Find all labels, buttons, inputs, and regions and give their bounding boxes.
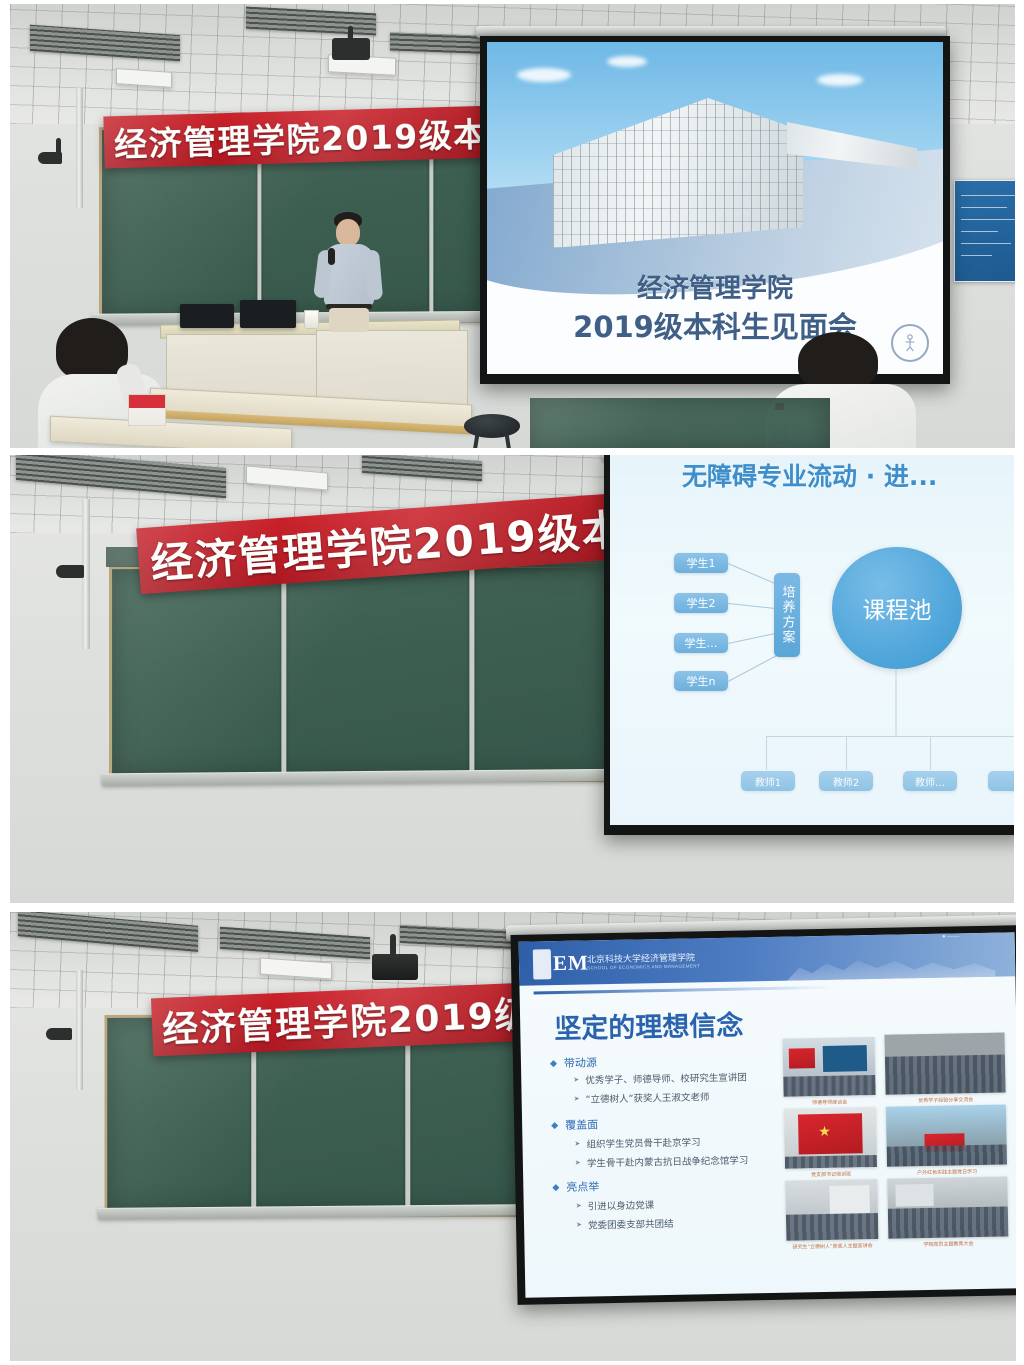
stool-seat [464,414,520,438]
plan-node: 培养方案 [774,573,800,657]
sub-bullet-arrow-icon: ➤ [573,1077,579,1084]
student-node-1: 学生1 [674,553,728,573]
audience-crowd [885,1054,1006,1094]
equipment-case [180,304,234,328]
stool-leg [505,434,512,448]
slide-3-section-item-2-1: 组织学生党员骨干赴京学习 [586,1134,700,1150]
bullet-diamond-icon [552,1184,559,1191]
slide-3-section-item-3-2: 党委团委支部共团结 [588,1216,674,1232]
chalkboard [109,564,635,783]
student-node-2: 学生2 [674,593,728,613]
projector-screen-frame: 无障碍专业流动 · 进... 学生1 学生2 学生… 学生n 培养方案 课程池 [604,455,1014,835]
teacher-drop-1 [766,736,767,770]
slide-2-title: 无障碍专业流动 · 进... [682,457,937,493]
cloud [517,68,571,82]
wall-notice-board [954,180,1015,282]
lecture-room-scene-2: 经济管理学院2019级本科 无障碍专业流动 · 进... 学生1 学生2 学生…… [10,455,1014,903]
collage-panel-2: 经济管理学院2019级本科 无障碍专业流动 · 进... 学生1 学生2 学生…… [10,455,1014,903]
slide-3-title: 坚定的理想信念 [554,1004,744,1047]
slide-3-photo-1 [783,1037,876,1097]
audience-crowd [786,1213,878,1241]
slide-3-photo-caption-5: 研究生“立德树人”获奖人主题宣讲会 [780,1242,884,1251]
collage-panel-3: 经济管理学院2019级本科 EM 北京科技大学经济管理学院 SCHOOL OF … [10,912,1016,1361]
sub-bullet-arrow-icon: ➤ [574,1141,580,1148]
projector-arm [390,934,396,956]
slide-3-section-item-1-1: 优秀学子、师德导师、校研究生宣讲团 [585,1069,747,1086]
teacher-drop-2 [846,736,847,770]
event-banner: 经济管理学院2019级本科 [103,106,498,169]
teacher-node-1: 教师1 [741,771,795,791]
student-node-3: 学生… [674,633,728,653]
sub-bullet-arrow-icon: ➤ [574,1096,580,1103]
course-pool-node: 课程池 [832,547,962,669]
projector-screen-frame: EM 北京科技大学经济管理学院 SCHOOL OF ECONOMICS AND … [510,925,1016,1305]
background-wall [884,1032,1004,1056]
slide-3-photo-6 [887,1176,1008,1238]
screen [823,1045,867,1072]
hair [798,332,878,390]
photo-collage: 经济管理学院2019级本科 经济管理学院 2019级本科生见面会 [0,0,1024,1365]
lecture-room-scene-3: 经济管理学院2019级本科 EM 北京科技大学经济管理学院 SCHOOL OF … [10,912,1016,1361]
projector-device [332,38,370,60]
speaker-person [310,212,388,332]
audience-crowd [785,1155,877,1169]
bullet-diamond-icon [550,1060,557,1067]
chalkboard-divider [405,1017,410,1214]
slide-2: 无障碍专业流动 · 进... 学生1 学生2 学生… 学生n 培养方案 课程池 [610,455,1014,825]
chalkboard-divider [281,568,286,777]
security-camera [46,1028,72,1040]
slide-3-photo-caption-3: 党支部书记培训班 [785,1170,877,1179]
event-banner-text: 经济管理学院2019级本科 [103,107,498,167]
slide-3-section-item-2-2: 学生骨干赴内蒙古抗日战争纪念馆学习 [587,1152,749,1169]
screen [829,1185,870,1214]
tissue-box-top [129,395,165,408]
teacher-node-more [988,771,1014,791]
stool [464,414,520,448]
slide-3-header-rule [534,986,834,995]
ceiling-vent [390,32,480,53]
slide-3-photo-caption-4: 户外红色实践主题党日学习 [887,1167,1007,1176]
slide-corner-mark: ● —— [942,934,959,940]
hammer-sickle-icon: ★ [818,1124,831,1138]
sub-bullet-arrow-icon: ➤ [576,1203,582,1210]
sub-bullet-arrow-icon: ➤ [576,1222,582,1229]
teacher-node-2: 教师2 [819,771,873,791]
projector-arm [348,26,353,40]
teacher-drop-3 [930,736,931,770]
cloud [607,56,647,67]
slide-3-photo-5 [785,1179,878,1241]
slide-3-section-heading-2: 覆盖面 [565,1116,598,1133]
lecture-room-scene-1: 经济管理学院2019级本科 经济管理学院 2019级本科生见面会 [10,4,1015,448]
sub-bullet-arrow-icon: ➤ [575,1160,581,1167]
chalkboard-divider [469,568,474,779]
arm-right [364,249,383,300]
teacher-bus-line [766,736,1014,737]
slide-3-section-heading-1: 带动源 [564,1054,597,1071]
slide-3-logo-abbr: EM [553,950,589,976]
audience-crowd [887,1144,1007,1166]
collage-panel-1: 经济管理学院2019级本科 经济管理学院 2019级本科生见面会 [10,4,1015,448]
wall-pipe [76,970,83,1090]
slide-3-photo-caption-2: 优秀学子经验分享交流会 [886,1095,1006,1104]
slide-3-section-item-3-1: 引进以身边党课 [588,1197,655,1212]
red-flag [789,1048,815,1068]
edge-pool-teachers [896,670,897,738]
microphone-icon [328,248,335,265]
slide-3-photo-caption-1: 师德导师座谈会 [784,1098,876,1107]
logo-mark-icon [533,949,552,979]
slide-3-photo-caption-6: 学院党员主题教育大会 [888,1239,1008,1248]
student-node-4: 学生n [674,671,728,691]
audience-crowd [888,1206,1009,1238]
slide-1: 经济管理学院 2019级本科生见面会 [487,42,943,374]
stool-leg [473,434,480,448]
edge-student4-plan [728,653,781,682]
audience-crowd [783,1075,875,1097]
tissue-box [128,394,166,426]
projector-device [372,954,418,980]
camera-mount [56,138,61,154]
lower-wall-board [530,398,830,448]
legs [329,308,369,332]
slide-1-title-line-1: 经济管理学院 [487,268,943,305]
slide-3-section-heading-3: 亮点举 [566,1178,599,1195]
slide-3: EM 北京科技大学经济管理学院 SCHOOL OF ECONOMICS AND … [519,932,1016,1297]
slide-3-photo-3: ★ [784,1107,877,1169]
slide-3-photo-2 [884,1032,1005,1094]
bullet-diamond-icon [551,1122,558,1129]
slide-3-photo-4 [886,1104,1007,1166]
screen [895,1184,933,1207]
security-camera [56,565,84,578]
teacher-node-3: 教师… [903,771,957,791]
cloud [817,74,863,86]
slide-3-section-item-1-2: “立德树人”获奖人王淑文老师 [586,1089,710,1105]
laptop [240,300,296,328]
head [336,219,360,246]
wall-pipe [76,88,83,208]
